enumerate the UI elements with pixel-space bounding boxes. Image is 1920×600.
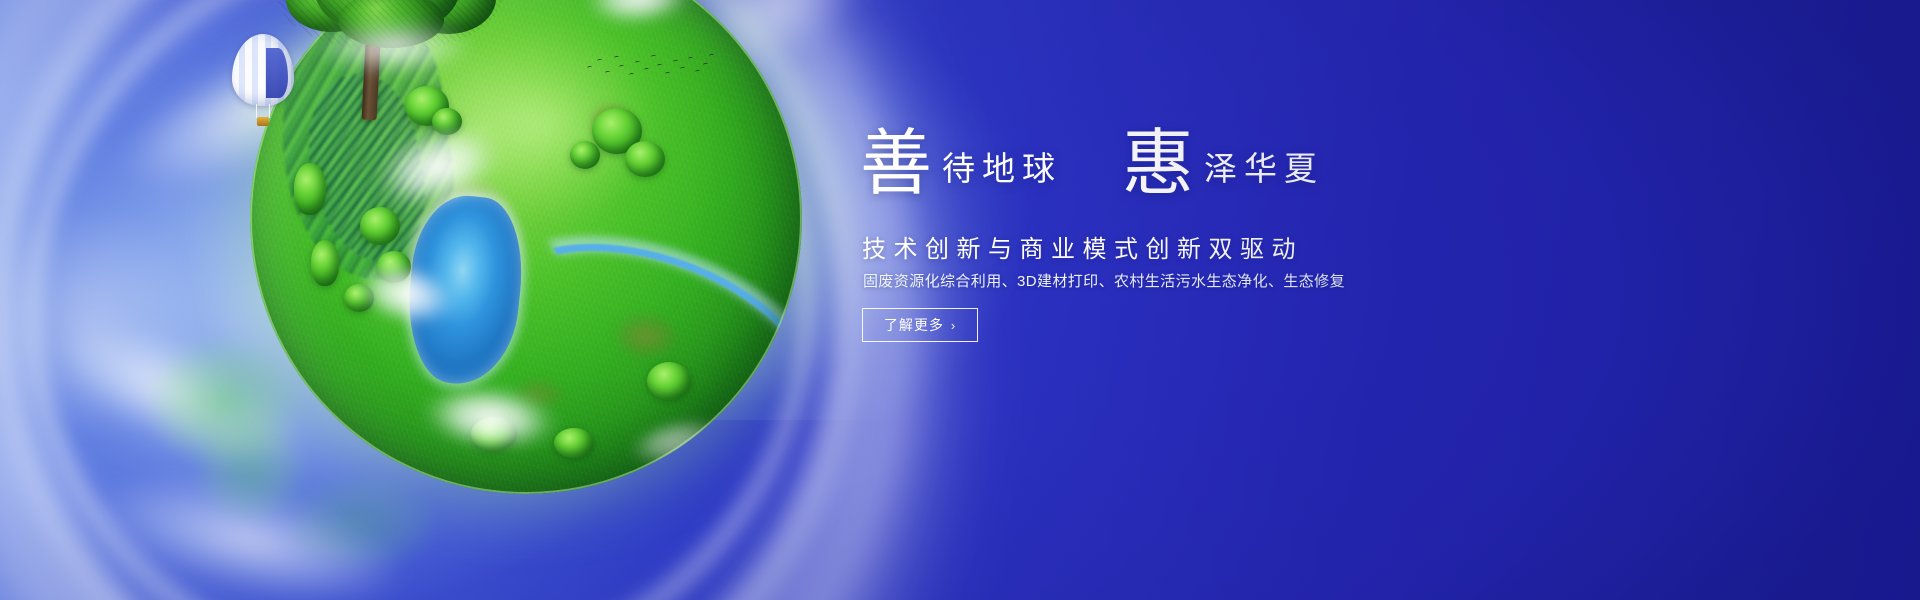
banner-vignette <box>0 0 1920 600</box>
hero-banner: 善待地球 惠泽华夏 技术创新与商业模式创新双驱动 固废资源化综合利用、3D建材打… <box>0 0 1920 600</box>
